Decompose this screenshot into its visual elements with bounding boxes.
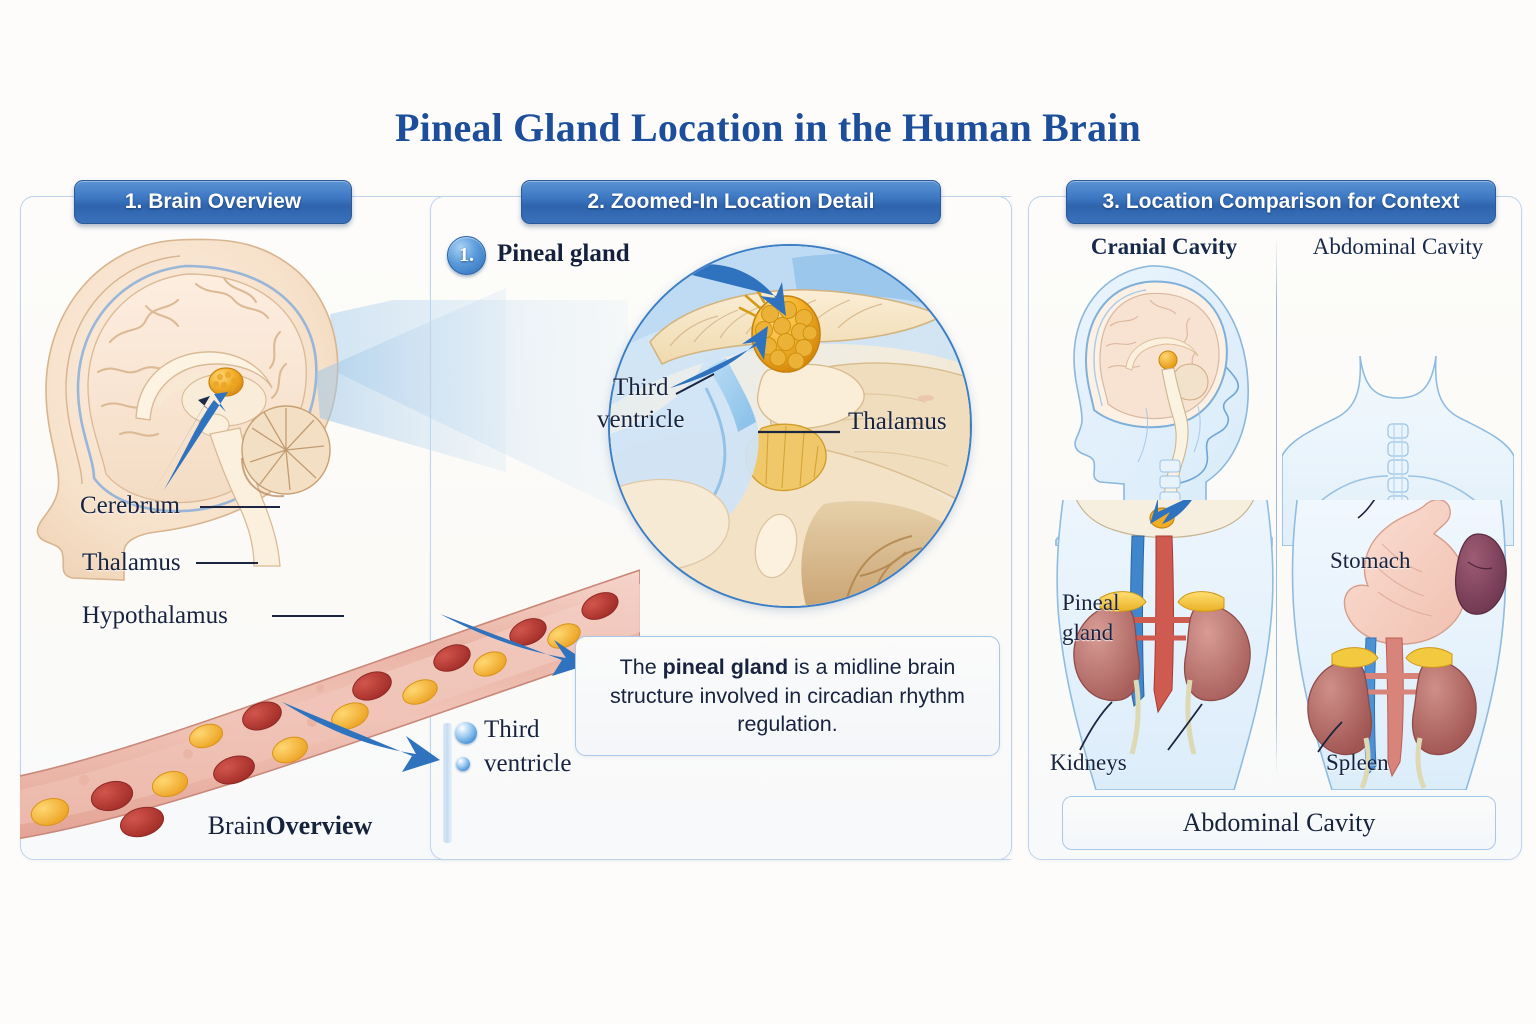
label-p3-pineal-line1: Pineal [1062, 590, 1120, 616]
callout-pineal-description: The pineal gland is a midline brain stru… [575, 636, 1000, 756]
panel1-footer-bold: Overview [265, 811, 372, 841]
label-p3-spleen: Spleen [1326, 750, 1389, 776]
leader-cerebrum [200, 506, 280, 508]
glossy-bullet-icon [455, 722, 477, 744]
panel3-column-title-cranial: Cranial Cavity [1064, 234, 1264, 260]
panel3-column-divider [1276, 236, 1277, 776]
label-zoom-thalamus: Thalamus [848, 408, 947, 436]
label-third-ventricle-line1: Third [484, 716, 540, 744]
label-zoom-third-ventricle-line2: ventricle [597, 406, 684, 434]
label-third-ventricle-line2: ventricle [484, 750, 571, 778]
panel1-footer-regular: Brain [208, 811, 266, 841]
brain-sagittal-illustration [28, 222, 508, 582]
label-hypothalamus: Hypothalamus [82, 602, 228, 630]
label-cerebrum: Cerebrum [80, 492, 180, 520]
third-ventricle-connector [443, 723, 452, 843]
panel1-footer: Brain Overview [150, 800, 430, 852]
page-title: Pineal Gland Location in the Human Brain [0, 104, 1536, 151]
glossy-bullet-icon [456, 757, 470, 771]
badge-pineal-gland: 1. [447, 236, 486, 275]
abdomen-right-illustration [1282, 500, 1514, 790]
leader-thalamus [196, 562, 258, 564]
callout-bold: pineal gland [663, 655, 788, 679]
blood-vessel-illustration [20, 540, 640, 840]
callout-prefix: The [620, 655, 663, 679]
label-p3-stomach: Stomach [1330, 548, 1411, 574]
leader-hypothalamus [272, 615, 344, 617]
panel3-column-title-abdominal: Abdominal Cavity [1288, 234, 1508, 260]
label-pineal-gland: Pineal gland [497, 240, 630, 268]
panel-header-1[interactable]: 1. Brain Overview [74, 180, 352, 224]
diagram-canvas: Pineal Gland Location in the Human Brain [0, 0, 1536, 1024]
panel-header-3[interactable]: 3. Location Comparison for Context [1066, 180, 1496, 224]
label-zoom-third-ventricle-line1: Third [613, 374, 669, 402]
label-p3-kidneys: Kidneys [1050, 750, 1127, 776]
panel3-footer: Abdominal Cavity [1062, 796, 1496, 850]
label-thalamus: Thalamus [82, 549, 181, 577]
label-p3-pineal-line2: gland [1062, 620, 1113, 646]
panel-header-2[interactable]: 2. Zoomed-In Location Detail [521, 180, 941, 224]
